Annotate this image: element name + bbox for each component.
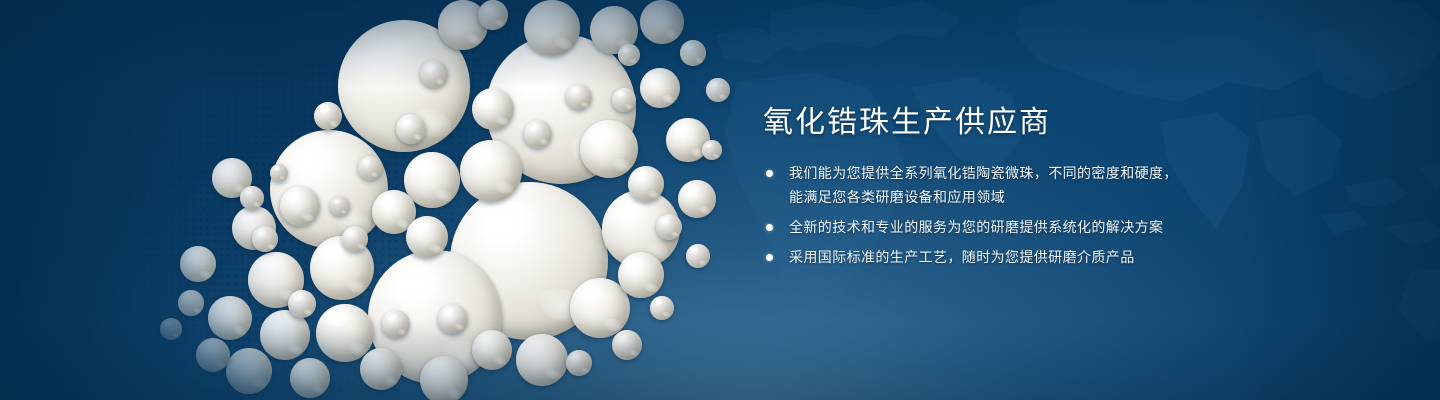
zirconia-beads-photo [120,0,760,400]
bullet-text-2-line1: 全新的技术和专业的服务为您的研磨提供系统化的解决方案 [789,219,1163,235]
banner-copy: 氧化锆珠生产供应商 我们能为您提供全系列氧化锆陶瓷微珠，不同的密度和硬度， 能满… [763,106,1363,269]
bullet-dot-icon [766,254,773,261]
bullet-dot-icon [766,224,773,231]
bullet-dot-icon [766,170,773,177]
bullet-text-1-line1: 我们能为您提供全系列氧化锆陶瓷微珠，不同的密度和硬度， [789,165,1178,181]
hero-banner: 氧化锆珠生产供应商 我们能为您提供全系列氧化锆陶瓷微珠，不同的密度和硬度， 能满… [0,0,1440,400]
bead-cluster [120,0,760,400]
bullet-item-3: 采用国际标准的生产工艺，随时为您提供研磨介质产品 [763,245,1363,269]
bullet-item-1: 我们能为您提供全系列氧化锆陶瓷微珠，不同的密度和硬度， 能满足您各类研磨设备和应… [763,161,1363,209]
bullet-text-3-line1: 采用国际标准的生产工艺，随时为您提供研磨介质产品 [789,249,1135,265]
banner-bullet-list: 我们能为您提供全系列氧化锆陶瓷微珠，不同的密度和硬度， 能满足您各类研磨设备和应… [763,161,1363,269]
bullet-item-2: 全新的技术和专业的服务为您的研磨提供系统化的解决方案 [763,215,1363,239]
banner-headline: 氧化锆珠生产供应商 [763,106,1363,139]
bullet-text-1-line2: 能满足您各类研磨设备和应用领域 [789,185,1363,209]
